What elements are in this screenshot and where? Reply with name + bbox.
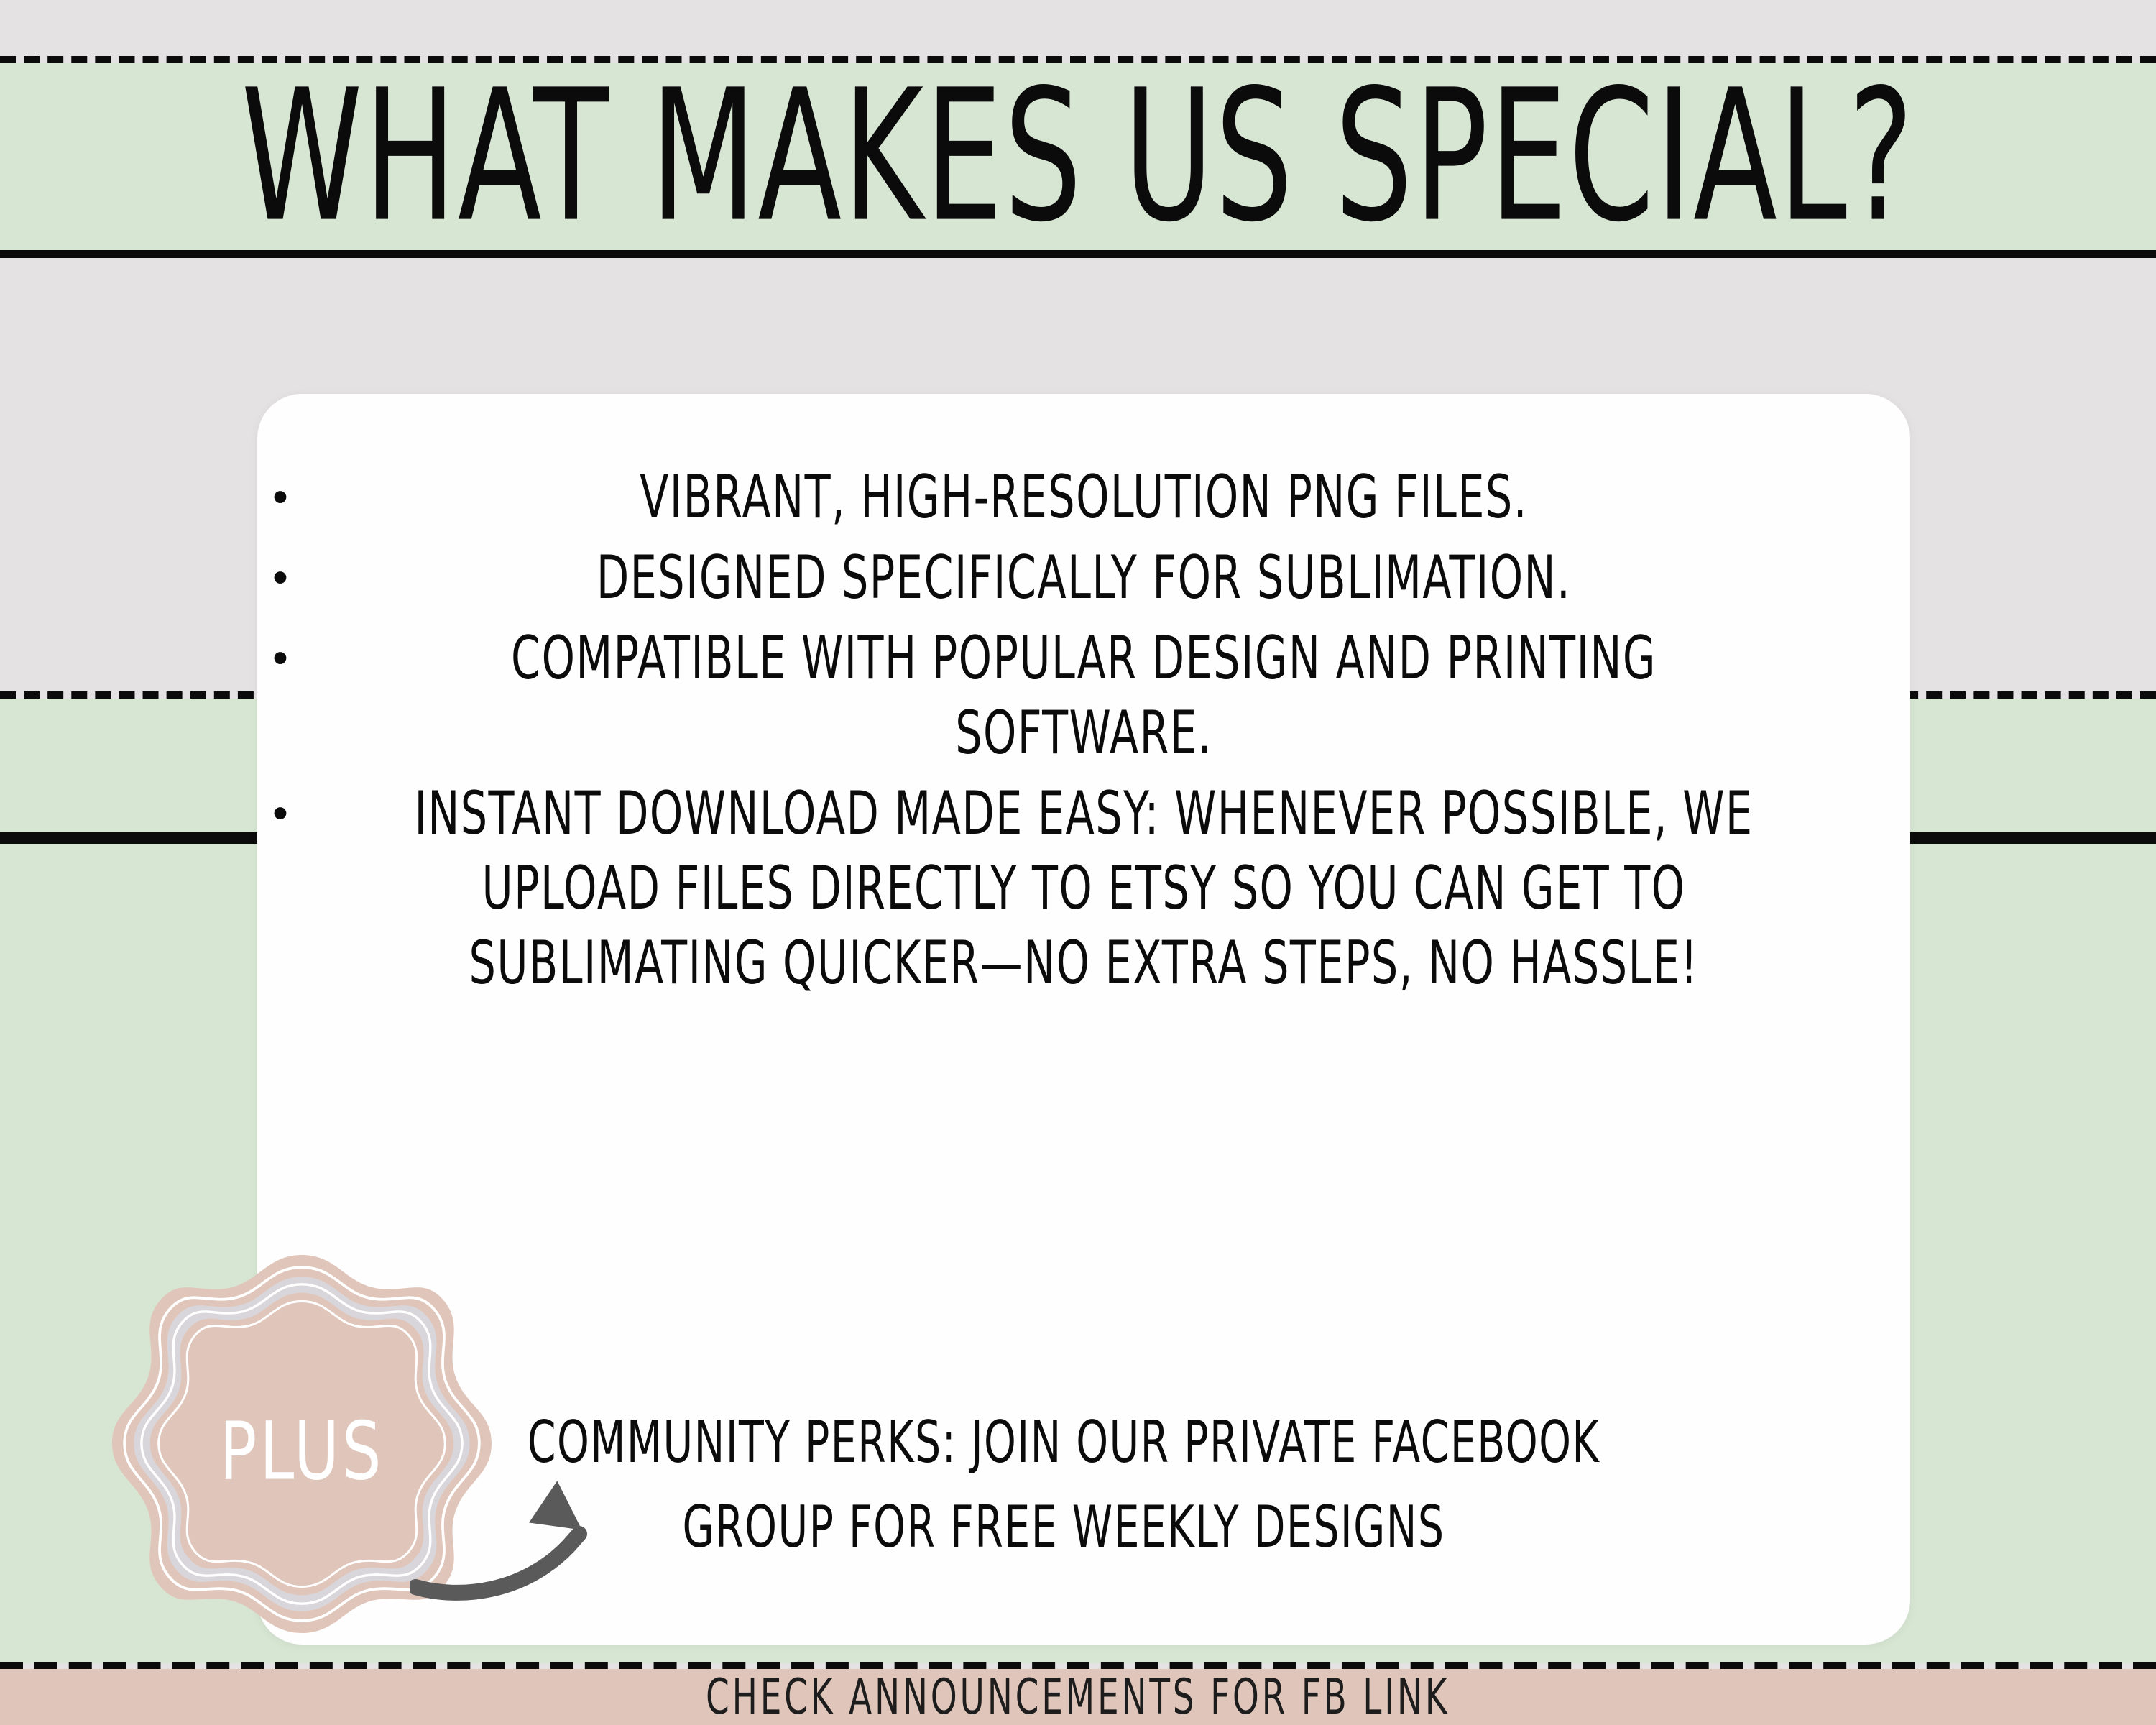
poster-canvas: WHAT MAKES US SPECIAL? • VIBRANT, HIGH-R…	[0, 0, 2156, 1725]
bullet-marker-icon: •	[257, 776, 303, 851]
curved-arrow-icon	[410, 1459, 647, 1603]
bullet-marker-icon: •	[257, 540, 303, 615]
list-item-line: SUBLIMATING QUICKER—NO EXTRA STEPS, NO H…	[342, 913, 1825, 1013]
plus-badge-label: PLUS	[108, 1190, 496, 1713]
list-item-body: DESIGNED SPECIFICALLY FOR SUBLIMATION.	[303, 540, 1910, 615]
list-item-body: COMPATIBLE WITH POPULAR DESIGN AND PRINT…	[303, 621, 1910, 770]
list-item: • VIBRANT, HIGH-RESOLUTION PNG FILES.	[257, 460, 1910, 535]
list-item: • INSTANT DOWNLOAD MADE EASY: WHENEVER P…	[257, 776, 1910, 1000]
footer-text: CHECK ANNOUNCEMENTS FOR FB LINK	[706, 1669, 1450, 1725]
bullet-marker-icon: •	[257, 460, 303, 535]
list-item-body: INSTANT DOWNLOAD MADE EASY: WHENEVER POS…	[303, 776, 1910, 1000]
title-band-inner: WHAT MAKES US SPECIAL?	[0, 63, 2156, 250]
page-title: WHAT MAKES US SPECIAL?	[241, 66, 1915, 248]
bullet-marker-icon: •	[257, 621, 303, 696]
list-item-body: VIBRANT, HIGH-RESOLUTION PNG FILES.	[303, 460, 1910, 535]
list-item: • DESIGNED SPECIFICALLY FOR SUBLIMATION.	[257, 540, 1910, 615]
list-item: • COMPATIBLE WITH POPULAR DESIGN AND PRI…	[257, 621, 1910, 770]
feature-bullet-list: • VIBRANT, HIGH-RESOLUTION PNG FILES. • …	[257, 460, 1910, 1006]
title-band: WHAT MAKES US SPECIAL?	[0, 63, 2156, 258]
